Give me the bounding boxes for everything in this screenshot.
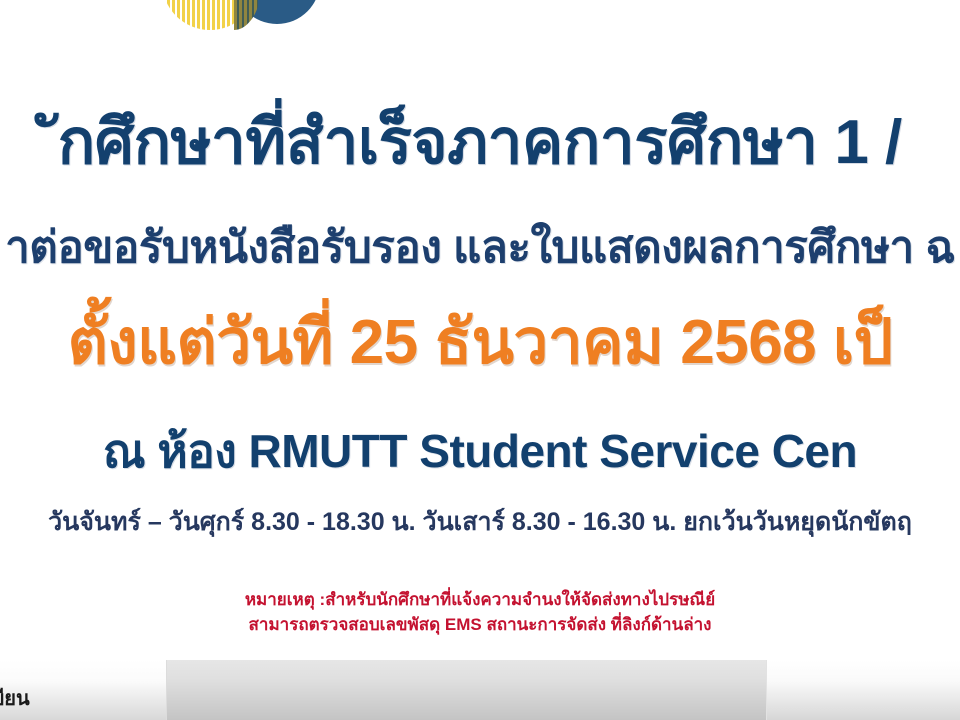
headline-line-3-date: ตั้งแต่วันที่ 25 ธันวาคม 2568 เป็ [68, 312, 893, 374]
note-line-1: หมายเหตุ :สำหรับนักศึกษาที่แจ้งความจำนงใ… [0, 588, 960, 613]
bottom-bar-label: ะเบียน [0, 682, 30, 714]
bottom-bar-left-panel[interactable]: ะเบียน [0, 660, 166, 720]
bottom-bar-center-panel[interactable] [166, 660, 767, 720]
note-line-2: สามารถตรวจสอบเลขพัสดุ EMS สถานะการจัดส่ง… [0, 613, 960, 638]
headline-line-4-location: ณ ห้อง RMUTT Student Service Cen [103, 428, 857, 474]
headline-line-1: ักศึกษาที่สำเร็จภาคการศึกษา 1 / [58, 112, 902, 174]
bottom-bar: ะเบียน [0, 660, 960, 720]
headline-line-2: าต่อขอรับหนังสือรับรอง และใบแสดงผลการศึก… [5, 226, 955, 270]
bottom-bar-right-panel[interactable] [766, 660, 960, 720]
opening-hours-line: วันจันทร์ – วันศุกร์ 8.30 - 18.30 น. วัน… [48, 510, 912, 535]
rmutt-logo [148, 0, 348, 48]
poster-canvas: ักศึกษาที่สำเร็จภาคการศึกษา 1 / าต่อขอรั… [0, 0, 960, 660]
note-block: หมายเหตุ :สำหรับนักศึกษาที่แจ้งความจำนงใ… [0, 588, 960, 637]
